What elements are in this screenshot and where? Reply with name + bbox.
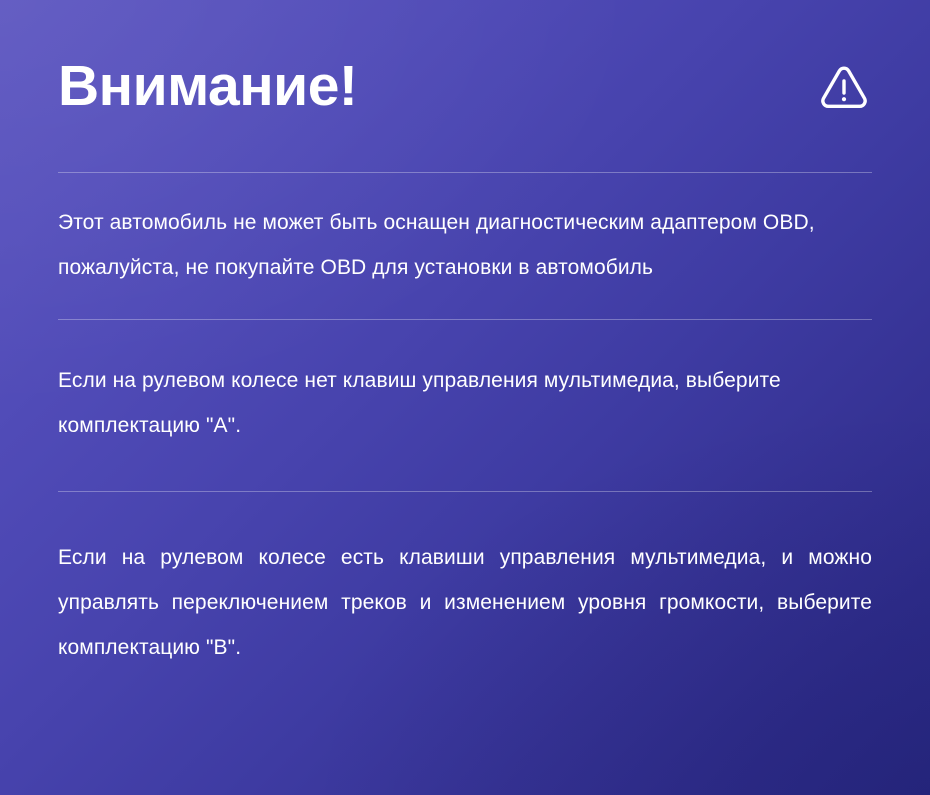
page-title: Внимание! [58,58,357,115]
notice-item-obd: Этот автомобиль не может быть оснащен ди… [58,173,872,319]
notice-item-trim-a: Если на рулевом колесе нет клавиш управл… [58,320,872,491]
notice-header: Внимание! [58,0,872,172]
notice-text: Этот автомобиль не может быть оснащен ди… [58,200,872,290]
notice-content: Внимание! Этот автомобиль не может быть … [0,0,930,710]
notice-item-trim-b: Если на рулевом колесе есть клавиши упра… [58,492,872,710]
warning-notice-card: Внимание! Этот автомобиль не может быть … [0,0,930,795]
notice-text: Если на рулевом колесе есть клавиши упра… [58,535,872,670]
warning-triangle-icon [818,59,870,113]
notice-text: Если на рулевом колесе нет клавиш управл… [58,358,872,448]
